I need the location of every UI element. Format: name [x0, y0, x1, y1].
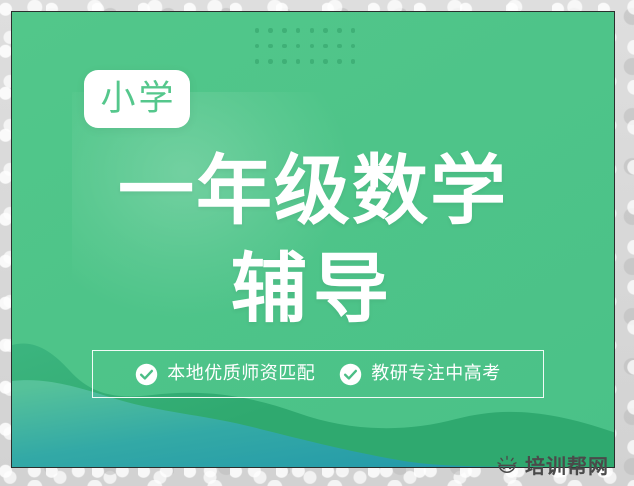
level-badge-label: 小学: [100, 82, 176, 117]
dot-grid-icon: [250, 23, 360, 69]
feature-strip: 本地优质师资匹配 教研专注中高考: [92, 350, 544, 398]
check-circle-icon: [135, 363, 158, 386]
feature-item: 本地优质师资匹配: [135, 363, 315, 386]
feature-label: 教研专注中高考: [371, 365, 501, 383]
watermark-text: 培训帮网: [525, 456, 609, 476]
check-circle-icon: [339, 363, 362, 386]
watermark: 培训帮网: [496, 452, 609, 480]
feature-item: 教研专注中高考: [339, 363, 501, 386]
level-badge: 小学: [84, 70, 190, 128]
poster-title-line-1: 一年级数学: [118, 153, 508, 229]
feature-label: 本地优质师资匹配: [167, 365, 315, 383]
sun-face-icon: [496, 455, 518, 477]
poster-canvas: 小学 一年级数学 辅导 本地优质师资匹配 教研专注中高考: [12, 12, 614, 467]
poster-title-line-2: 辅导: [231, 251, 395, 327]
poster-frame: 小学 一年级数学 辅导 本地优质师资匹配 教研专注中高考: [11, 11, 615, 468]
